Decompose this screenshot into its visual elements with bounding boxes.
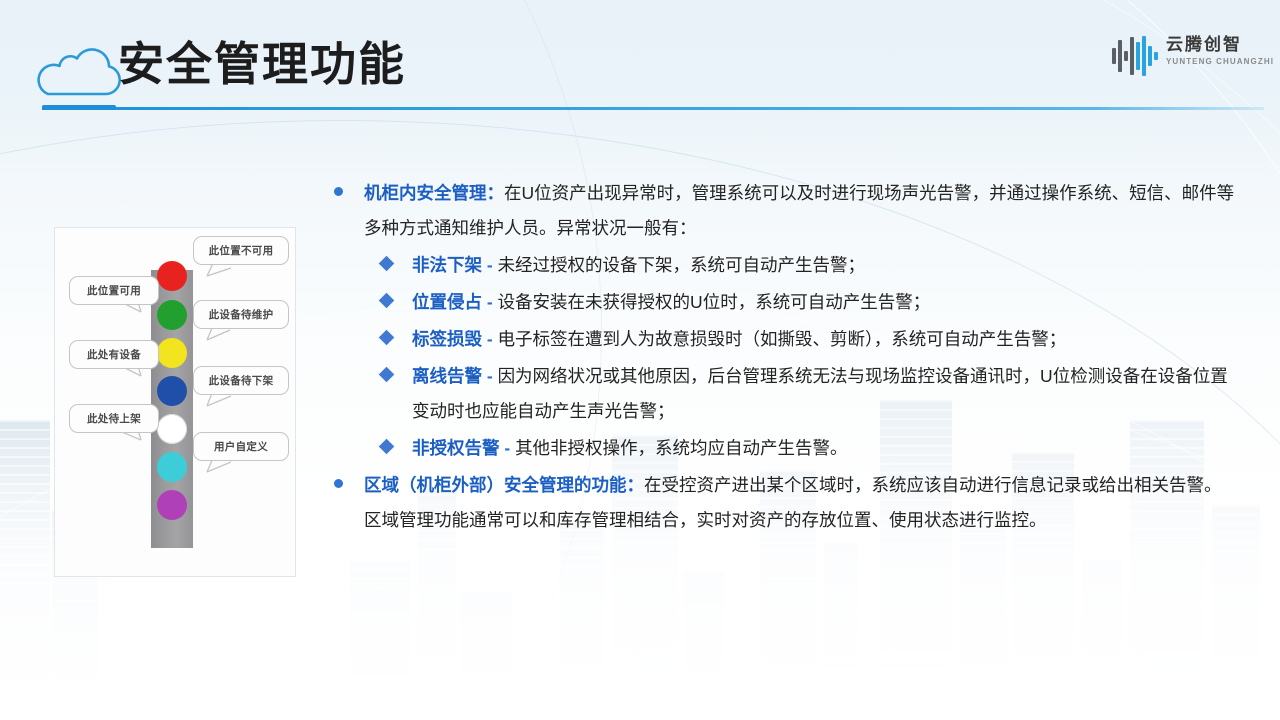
sub-bullet-position-occupied-heading: 位置侵占	[412, 292, 482, 312]
sub-bullet-separator: -	[482, 255, 498, 275]
sub-bullet-offline-alarm-heading: 离线告警	[412, 366, 482, 386]
led-status-figure: 此位置不可用 此位置可用 此设备待维护 此处有设备 此设备待下架 此处待上架 用…	[55, 228, 295, 576]
slide-canvas: 安全管理功能	[0, 0, 1280, 720]
sub-bullet-illegal-removal-heading: 非法下架	[412, 255, 482, 275]
sub-bullet-offline-alarm-body: 因为网络状况或其他原因，后台管理系统无法与现场监控设备通讯时，U位检测设备在设备…	[412, 366, 1228, 421]
sub-bullet-tag-damage-heading: 标签损毁	[412, 329, 482, 349]
header-divider	[42, 107, 1264, 110]
bullet-diamond-icon	[379, 439, 395, 455]
sub-bullet-separator: -	[482, 329, 498, 349]
sub-bullet-position-occupied: 位置侵占 - 设备安装在未获得授权的U位时，系统可自动产生告警；	[326, 285, 1238, 320]
bullet-area-security: 区域（机柜外部）安全管理的功能：在受控资产进出某个区域时，系统应该自动进行信息记…	[326, 468, 1238, 538]
bullet-cabinet-security-text: 机柜内安全管理：在U位资产出现异常时，管理系统可以及时进行现场声光告警，并通过操…	[364, 176, 1238, 246]
page-title: 安全管理功能	[118, 33, 406, 95]
sub-bullet-illegal-removal: 非法下架 - 未经过授权的设备下架，系统可自动产生告警；	[326, 248, 1238, 283]
bullet-dot-icon	[334, 479, 343, 488]
callout-led-green: 此位置可用	[69, 276, 159, 305]
sub-bullet-unauthorized-alarm: 非授权告警 - 其他非授权操作，系统均应自动产生告警。	[326, 431, 1238, 466]
led-cyan	[157, 452, 187, 482]
bullet-dot-icon	[334, 187, 343, 196]
bullet-cabinet-security: 机柜内安全管理：在U位资产出现异常时，管理系统可以及时进行现场声光告警，并通过操…	[326, 176, 1238, 246]
bullet-diamond-icon	[379, 293, 395, 309]
sub-bullet-unauthorized-alarm-heading: 非授权告警	[412, 438, 500, 458]
callout-led-blue: 此处有设备	[69, 340, 159, 369]
led-white	[157, 414, 187, 444]
sub-bullet-separator: -	[500, 438, 516, 458]
callout-led-cyan: 此处待上架	[69, 404, 159, 433]
bullet-diamond-icon	[379, 330, 395, 346]
sub-bullet-separator: -	[482, 366, 498, 386]
logo-name-en: YUNTENG CHUANGZHI	[1166, 56, 1266, 68]
bullet-diamond-icon	[379, 367, 395, 383]
bullet-area-security-text: 区域（机柜外部）安全管理的功能：在受控资产进出某个区域时，系统应该自动进行信息记…	[364, 468, 1238, 538]
led-blue	[157, 376, 187, 406]
header-divider-accent	[42, 105, 116, 110]
led-purple	[157, 490, 187, 520]
callout-led-red: 此位置不可用	[193, 236, 289, 265]
sub-bullet-unauthorized-alarm-body: 其他非授权操作，系统均应自动产生告警。	[515, 438, 848, 458]
sub-bullet-separator: -	[482, 292, 498, 312]
cloud-icon	[36, 44, 124, 100]
led-red	[157, 261, 187, 291]
led-green	[157, 300, 187, 330]
content-body: 机柜内安全管理：在U位资产出现异常时，管理系统可以及时进行现场声光告警，并通过操…	[326, 176, 1238, 540]
callout-led-white: 此设备待下架	[193, 366, 289, 395]
sub-bullet-tag-damage: 标签损毁 - 电子标签在遭到人为故意损毁时（如撕毁、剪断），系统可自动产生告警；	[326, 322, 1238, 357]
sub-bullet-offline-alarm: 离线告警 - 因为网络状况或其他原因，后台管理系统无法与现场监控设备通讯时，U位…	[326, 359, 1238, 429]
bullet-cabinet-security-heading: 机柜内安全管理：	[364, 183, 504, 203]
logo-name-cn: 云腾创智	[1166, 34, 1266, 56]
callout-led-purple: 用户自定义	[193, 432, 289, 461]
sub-bullet-tag-damage-body: 电子标签在遭到人为故意损毁时（如撕毁、剪断），系统可自动产生告警；	[498, 329, 1067, 349]
callout-led-yellow: 此设备待维护	[193, 300, 289, 329]
sound-bars-icon	[1112, 36, 1158, 76]
led-yellow	[157, 338, 187, 368]
bullet-diamond-icon	[379, 256, 395, 272]
sub-bullet-position-occupied-body: 设备安装在未获得授权的U位时，系统可自动产生告警；	[498, 292, 931, 312]
sub-bullet-illegal-removal-body: 未经过授权的设备下架，系统可自动产生告警；	[498, 255, 866, 275]
bullet-area-security-heading: 区域（机柜外部）安全管理的功能：	[364, 475, 644, 495]
slide-header: 安全管理功能	[0, 0, 1280, 112]
brand-logo: 云腾创智 YUNTENG CHUANGZHI	[1112, 32, 1264, 80]
